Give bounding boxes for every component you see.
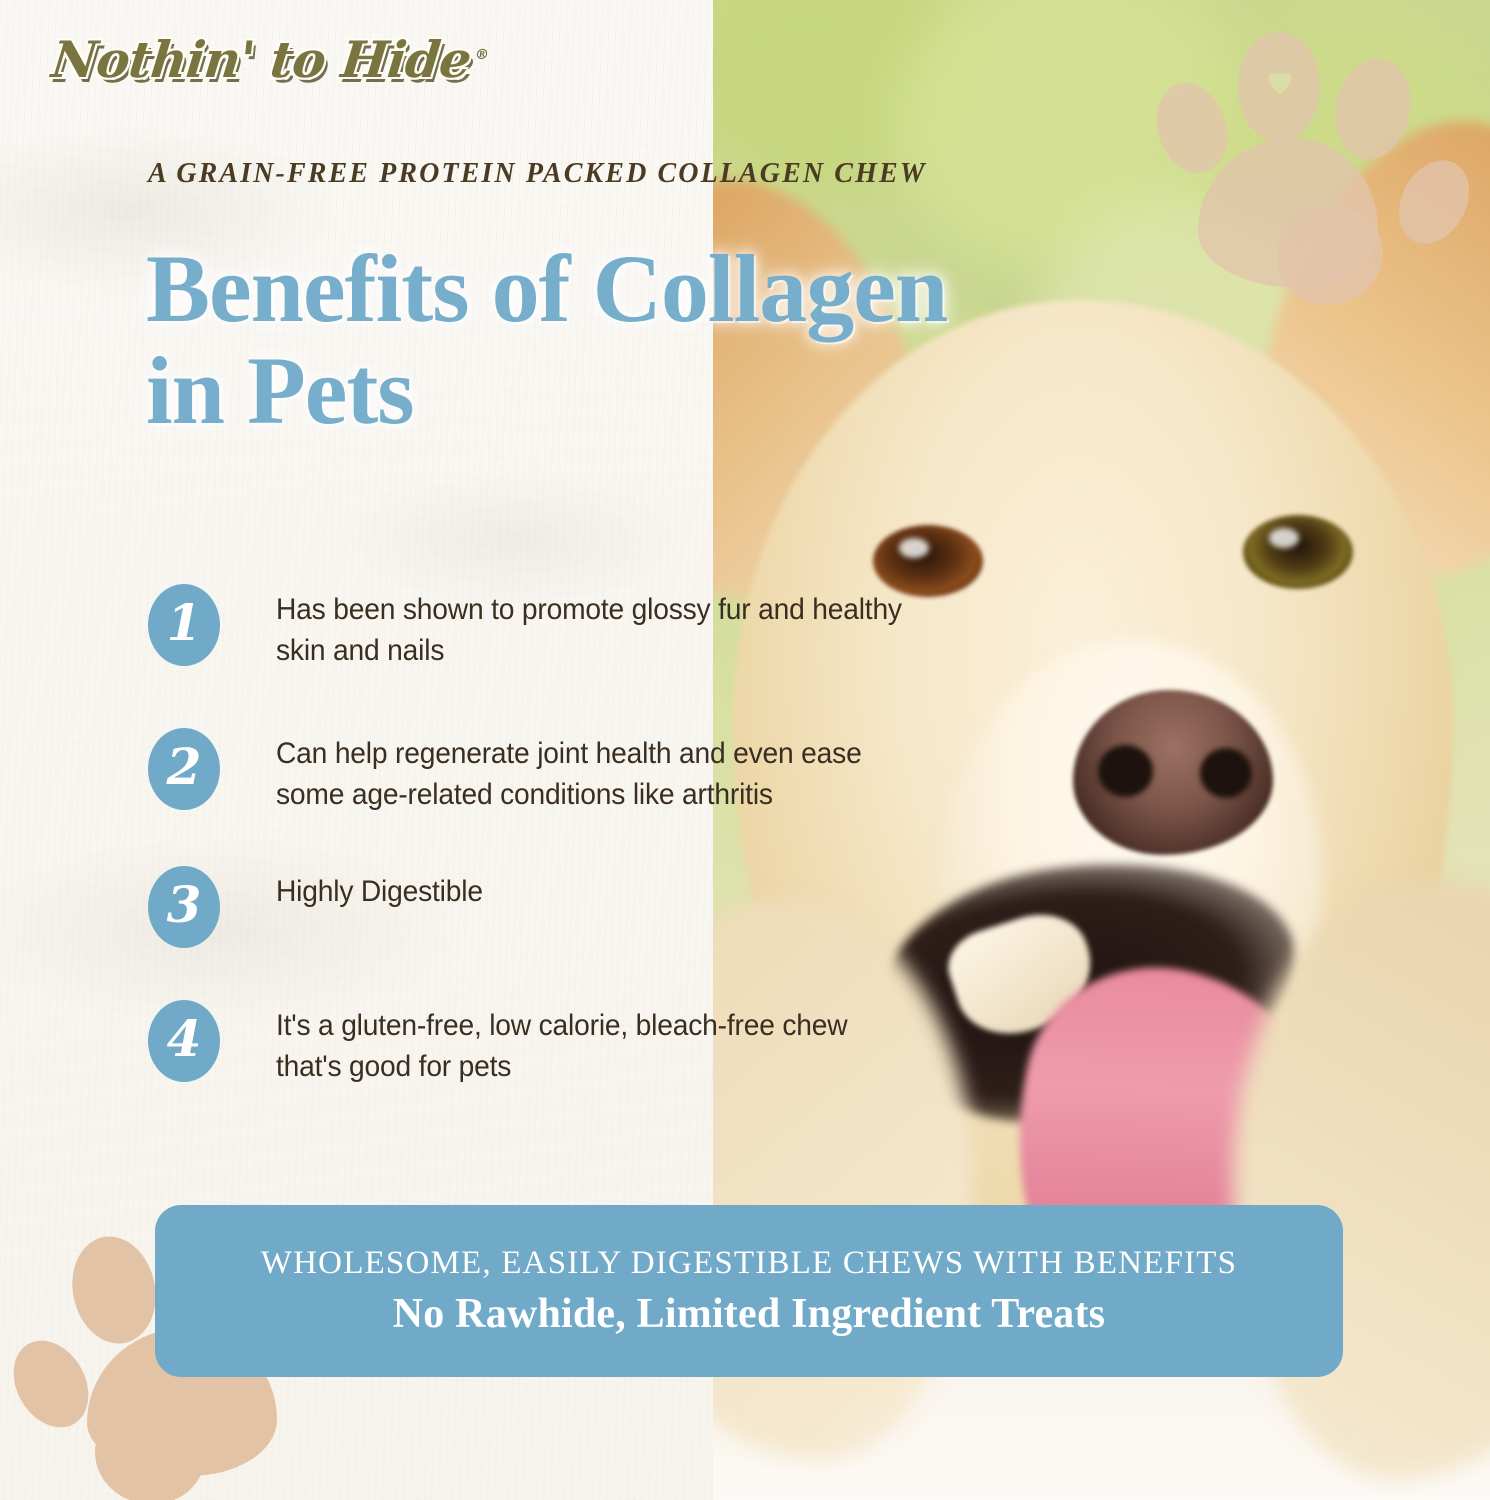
dog-right-eye [1243,515,1353,589]
benefit-number-badge: 2 [148,728,220,810]
paw-toe-pad [63,1229,166,1352]
benefit-item-1: 1 Has been shown to promote glossy fur a… [148,584,956,672]
benefit-item-4: 4 It's a gluten-free, low calorie, bleac… [148,1000,956,1088]
banner-subheadline: No Rawhide, Limited Ingredient Treats [393,1290,1105,1338]
promo-banner: WHOLESOME, EASILY DIGESTIBLE CHEWS WITH … [155,1205,1343,1377]
dog-left-eye-highlight [899,538,929,558]
paw-main-pad-heel [1278,206,1383,304]
benefit-text: Highly Digestible [276,866,483,913]
paw-toe-pad [1385,148,1483,256]
paw-toe-pad-with-heart [1238,32,1320,142]
headline-line-2: in Pets [146,340,1266,442]
page-title: Benefits of Collagen in Pets [146,238,1266,442]
benefit-number-badge: 4 [148,1000,220,1082]
benefit-text: Has been shown to promote glossy fur and… [276,584,915,672]
benefit-text: Can help regenerate joint health and eve… [276,728,915,816]
dog-nostril-right [1200,748,1252,798]
benefit-item-3: 3 Highly Digestible [148,866,496,948]
headline-line-1: Benefits of Collagen [146,238,1266,340]
banner-headline: WHOLESOME, EASILY DIGESTIBLE CHEWS WITH … [261,1245,1237,1282]
paw-toe-pad [1326,51,1420,166]
infographic-canvas: Nothin' to Hide® A GRAIN-FREE PROTEIN PA… [0,0,1490,1500]
heart-icon [1269,73,1292,95]
brand-logo-text: Nothin' to Hide [49,30,474,89]
paw-main-pad-heel [95,1402,205,1500]
benefit-item-2: 2 Can help regenerate joint health and e… [148,728,956,816]
dog-nostril-left [1098,745,1153,797]
brand-logo: Nothin' to Hide® [49,30,491,89]
registered-trademark-icon: ® [474,47,489,63]
benefit-text: It's a gluten-free, low calorie, bleach-… [276,1000,915,1088]
tagline: A GRAIN-FREE PROTEIN PACKED COLLAGEN CHE… [148,158,927,190]
benefit-number-badge: 1 [148,584,220,666]
benefit-number-badge: 3 [148,866,220,948]
dog-right-eye-highlight [1269,528,1299,548]
